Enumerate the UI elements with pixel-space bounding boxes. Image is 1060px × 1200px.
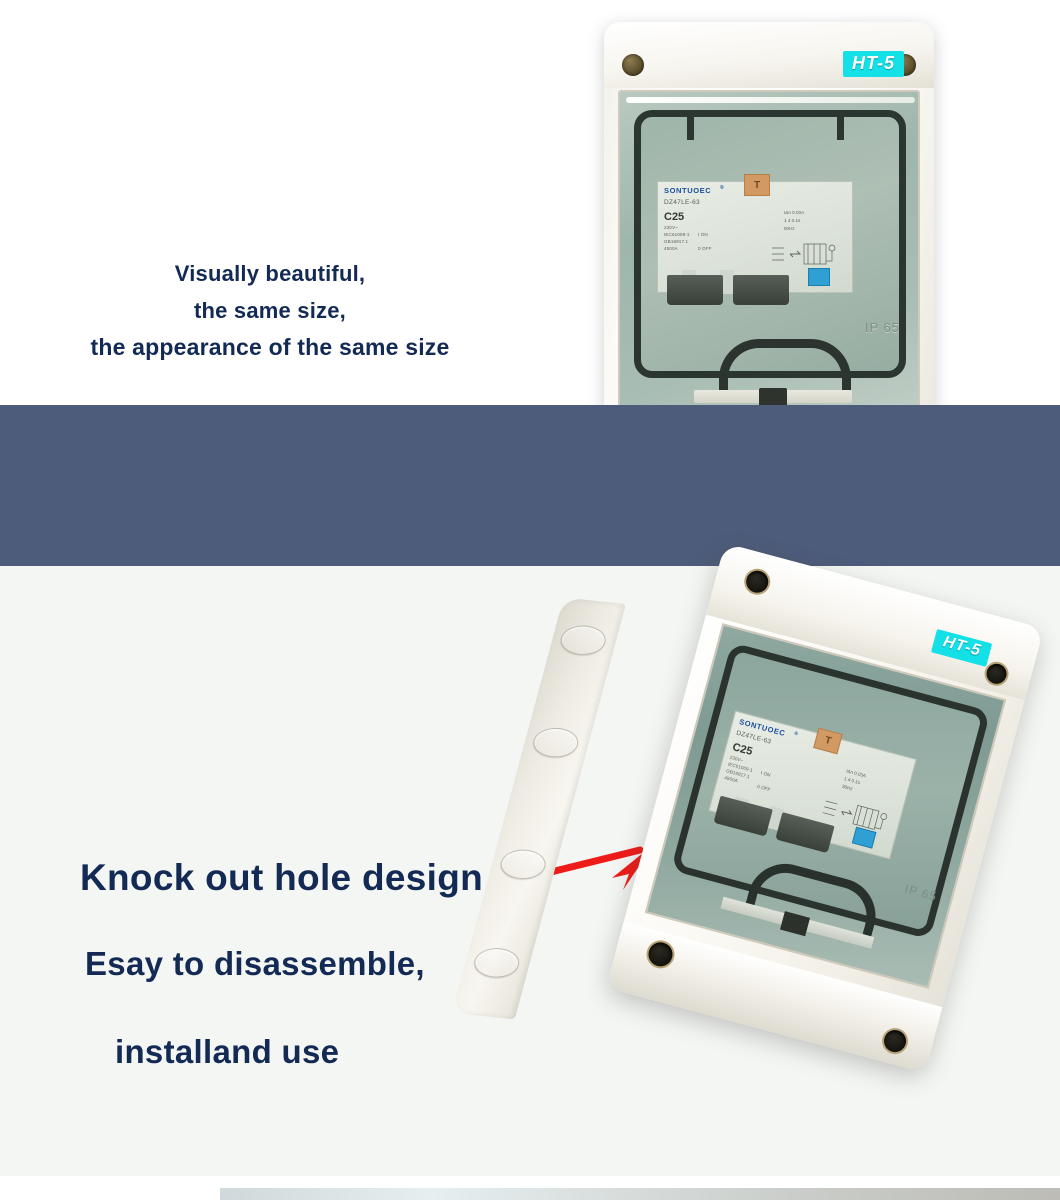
breaker-rating-text: C25 — [664, 211, 684, 223]
top-copy-line-3: the appearance of the same size — [30, 329, 510, 366]
screw-cap-top-left — [622, 54, 644, 76]
registered-mark-icon-angled: ® — [793, 731, 798, 738]
top-copy-line-1: Visually beautiful, — [30, 255, 510, 292]
test-button-angled[interactable]: T — [813, 728, 843, 755]
breaker-toggle-lever-2[interactable] — [733, 275, 789, 305]
breaker-toggle-lever-1[interactable] — [667, 275, 723, 305]
breaker-spec-line-4: 4500A — [664, 246, 678, 253]
breaker-model-text: DZ47LE-63 — [664, 199, 700, 206]
cover-pull-handle[interactable] — [719, 339, 851, 395]
residual-spec-line-2: 1 4 0.1s — [784, 218, 800, 225]
bottom-copy-line-2: Esay to disassemble, — [55, 941, 525, 987]
cover-highlight — [626, 97, 915, 103]
enclosure-body-angled: HT-5 SONTUOEC ® DZ47LE-63 C25 230V~ IEC6… — [606, 543, 1044, 1073]
next-image-sliver — [220, 1188, 1060, 1200]
breaker-switch-off-label: 0 OFF — [698, 246, 712, 253]
product-angled-view: HT-5 SONTUOEC ® DZ47LE-63 C25 230V~ IEC6… — [612, 560, 1042, 1130]
bottom-copy-block: Knock out hole design Esay to disassembl… — [55, 855, 525, 1075]
cover-inner-frame-angled: SONTUOEC ® DZ47LE-63 C25 230V~ IEC61009-… — [671, 642, 991, 939]
residual-spec-line-3-angled: 50Hz — [841, 784, 853, 793]
breaker-switch-on-label-angled: I ON — [760, 770, 771, 779]
transparent-cover-window: SONTUOEC ® DZ47LE-63 C25 230V~ IEC61009-… — [618, 90, 920, 430]
ip-rating-label: IP 65 — [865, 320, 900, 335]
model-label-ht5: HT-5 — [843, 51, 904, 77]
breaker-switch-on-label: I ON — [698, 232, 708, 239]
residual-spec-line-1: IΔn 0.03A — [784, 210, 804, 217]
frame-notch-right — [837, 110, 844, 140]
bottom-copy-line-3: installand use — [55, 1029, 525, 1075]
residual-spec-line-3: 50Hz — [784, 226, 795, 233]
registered-mark-icon: ® — [720, 185, 724, 191]
top-copy-line-2: the same size, — [30, 292, 510, 329]
slate-divider-band — [0, 405, 1060, 566]
knock-out-hole-1 — [557, 623, 609, 657]
breaker-brand-text: SONTUOEC — [664, 186, 711, 195]
knock-out-hole-3 — [497, 847, 549, 881]
bottom-copy-line-1: Knock out hole design — [55, 855, 525, 901]
product-marketing-page: Visually beautiful, the same size, the a… — [0, 0, 1060, 1200]
breaker-spec-line-2: IEC61009-1 — [664, 232, 690, 239]
frame-notch-left — [687, 110, 694, 140]
cover-inner-frame: SONTUOEC ® DZ47LE-63 C25 230V~ IEC61009-… — [634, 110, 906, 378]
knock-out-hole-2 — [530, 726, 582, 760]
test-button[interactable]: T — [744, 174, 770, 196]
top-copy-block: Visually beautiful, the same size, the a… — [30, 255, 510, 366]
breaker-spec-line-3: GB16917.1 — [664, 239, 688, 246]
knock-out-hole-4 — [471, 946, 523, 980]
breaker-spec-line-1: 230V~ — [664, 225, 678, 232]
breaker-switch-off-label-angled: 0 OFF — [756, 784, 771, 794]
breaker-indicator-blue — [808, 268, 830, 286]
wiring-diagram-icon — [768, 240, 846, 268]
